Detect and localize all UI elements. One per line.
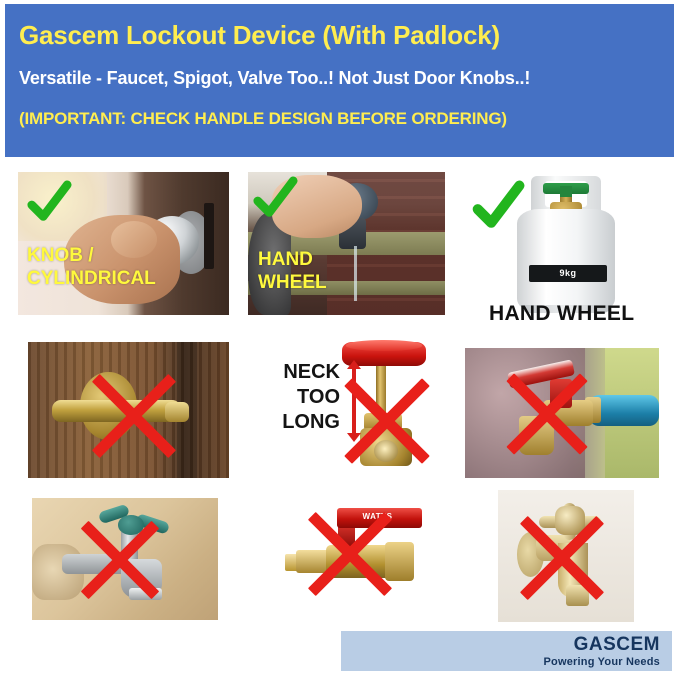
x-mark-icon (495, 362, 599, 466)
caption-line-1: KNOB / (27, 244, 156, 267)
caption-line-2: WHEEL (258, 271, 327, 294)
header-banner: Gascem Lockout Device (With Padlock) Ver… (4, 3, 675, 158)
cell-hand-wheel-cylinder: 9kg HAND WHEEL (463, 166, 669, 331)
header-subtitle: Versatile - Faucet, Spigot, Valve Too..!… (19, 66, 660, 90)
cell-red-lever-hose-bib (465, 348, 659, 478)
caption-hand-wheel: HAND WHEEL (489, 302, 634, 326)
cell-watts-ball-valve: WATTS (270, 490, 455, 620)
caption-line-2: CYLINDRICAL (27, 267, 156, 290)
header-note: (IMPORTANT: CHECK HANDLE DESIGN BEFORE O… (19, 108, 660, 130)
cell-knob-cylindrical: KNOB / CYLINDRICAL (18, 172, 229, 315)
annotation-line-2: TOO (248, 385, 340, 410)
x-mark-icon (332, 366, 442, 476)
x-mark-icon (508, 504, 616, 612)
cylinder-weight-label: 9kg (560, 268, 577, 278)
cell-long-neck-valve: NECK TOO LONG (248, 336, 448, 484)
x-mark-icon (80, 362, 188, 470)
footer-brand-bar: GASCEM Powering Your Needs (340, 630, 673, 672)
cell-gold-cross-faucet (498, 490, 634, 622)
infographic-page: Gascem Lockout Device (With Padlock) Ver… (0, 0, 679, 675)
page-title: Gascem Lockout Device (With Padlock) (19, 20, 660, 50)
annotation-line-3: LONG (248, 410, 340, 435)
x-mark-icon (70, 510, 170, 610)
check-mark-icon (252, 176, 298, 222)
caption-line-1: HAND (258, 248, 327, 271)
brand-tagline: Powering Your Needs (544, 656, 660, 668)
x-mark-icon (296, 500, 404, 608)
cell-lever-door-handle (28, 342, 229, 478)
annotation-line-1: NECK (248, 360, 340, 385)
cell-hand-wheel-spigot: HAND WHEEL (248, 172, 445, 315)
check-mark-icon (471, 180, 525, 234)
check-mark-icon (26, 180, 72, 226)
brand-name: GASCEM (574, 634, 660, 656)
cell-cross-handle-wall-tap (32, 498, 218, 620)
